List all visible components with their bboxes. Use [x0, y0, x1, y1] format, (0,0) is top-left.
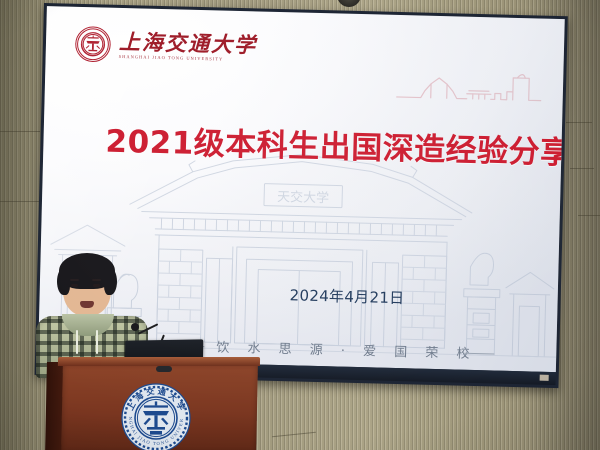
sjtu-logo-chinese: 上海交通大学 [119, 31, 257, 55]
campus-skyline-icon [395, 63, 546, 109]
microphone-head-icon [131, 323, 139, 331]
presenter-hair-side-right [104, 268, 117, 295]
presenter-hood-string-right [96, 330, 98, 354]
presenter-eyebrow-right [92, 279, 101, 281]
svg-text:天交大学: 天交大学 [277, 189, 329, 206]
sjtu-logo: 上海交通大学 SHANGHAI JIAO TONG UNIVERSITY [73, 25, 257, 68]
presenter-hair-side-left [57, 268, 70, 295]
presenter-eye-right [93, 284, 100, 287]
screen-sensor-icon [540, 375, 549, 381]
presenter-eye-left [71, 284, 78, 287]
presenter-hood-string-left [76, 330, 78, 354]
lecture-hall-scene: 天交大学 [0, 0, 600, 450]
wall-seam-line [570, 168, 594, 169]
wall-seam-line [566, 122, 592, 123]
podium-top-edge [58, 357, 260, 366]
wall-seam-line [0, 201, 44, 202]
wall-seam-line [578, 215, 600, 216]
presenter-mouth [80, 301, 94, 308]
presenter-eyebrow-left [70, 279, 79, 281]
sjtu-seal-icon [73, 25, 112, 64]
microphone-base [156, 366, 172, 372]
slide-date: 2024年4月21日 [289, 284, 404, 308]
wall-seam-line [0, 131, 40, 132]
sjtu-podium-emblem: 上 海 交 通 大 学 SHANGHAI JIAO TONG UNIVERSIT… [120, 382, 192, 450]
